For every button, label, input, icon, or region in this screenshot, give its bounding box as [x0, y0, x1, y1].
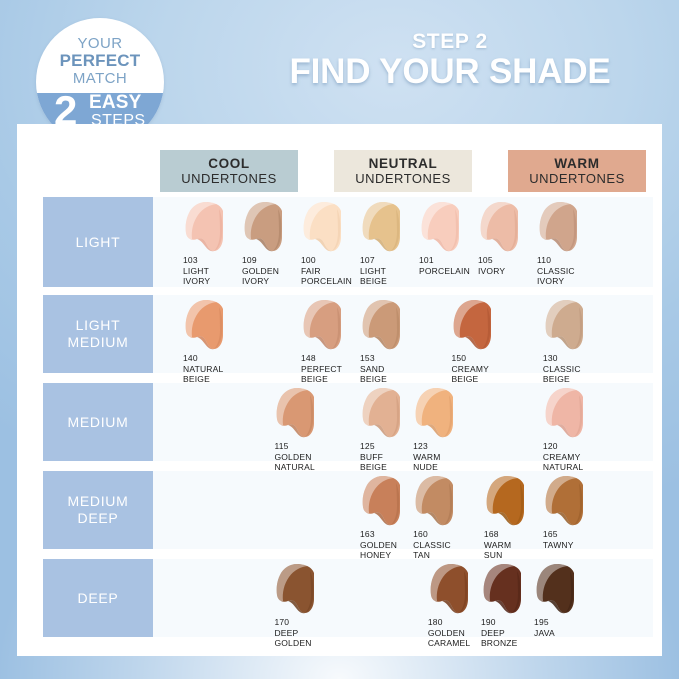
shade-swatch-101[interactable]: 101PORCELAIN [419, 201, 477, 276]
row-label-medium[interactable]: MEDIUM [43, 383, 153, 461]
row-label-text: LIGHT [76, 234, 121, 251]
shade-chart-card: COOLUNDERTONESNEUTRALUNDERTONESWARMUNDER… [17, 124, 662, 656]
shade-code: 170 [274, 617, 332, 628]
shade-name: JAVA [534, 628, 592, 639]
shade-name: SAND BEIGE [360, 364, 418, 385]
shade-code: 150 [451, 353, 509, 364]
shade-code: 163 [360, 529, 418, 540]
shade-swatch-115[interactable]: 115GOLDEN NATURAL [274, 387, 332, 473]
shade-code: 153 [360, 353, 418, 364]
undertone-title: WARM [554, 156, 599, 171]
shade-swatch-190[interactable]: 190DEEP BRONZE [481, 563, 539, 649]
shade-code: 168 [484, 529, 542, 540]
undertone-subtitle: UNDERTONES [529, 171, 625, 186]
shade-code: 195 [534, 617, 592, 628]
shade-code: 125 [360, 441, 418, 452]
shade-name: PORCELAIN [419, 266, 477, 277]
shade-swatch-153[interactable]: 153SAND BEIGE [360, 299, 418, 385]
foundation-swatch-icon [301, 201, 347, 253]
shade-name: FAIR PORCELAIN [301, 266, 359, 287]
foundation-swatch-icon [543, 387, 589, 439]
shade-row-light: LIGHT103LIGHT IVORY109GOLDEN IVORY100FAI… [43, 197, 653, 287]
shade-code: 110 [537, 255, 595, 266]
shade-swatch-109[interactable]: 109GOLDEN IVORY [242, 201, 300, 287]
foundation-swatch-icon [543, 475, 589, 527]
shade-swatch-163[interactable]: 163GOLDEN HONEY [360, 475, 418, 561]
undertone-header-warm[interactable]: WARMUNDERTONES [508, 150, 646, 192]
shade-code: 130 [543, 353, 601, 364]
shade-swatch-100[interactable]: 100FAIR PORCELAIN [301, 201, 359, 287]
shade-swatch-148[interactable]: 148PERFECT BEIGE [301, 299, 359, 385]
shade-row-medium: MEDIUM115GOLDEN NATURAL125BUFF BEIGE123W… [43, 383, 653, 461]
foundation-swatch-icon [274, 387, 320, 439]
shade-row-medium-deep: MEDIUMDEEP163GOLDEN HONEY160CLASSIC TAN1… [43, 471, 653, 549]
foundation-swatch-icon [428, 563, 474, 615]
shade-swatch-125[interactable]: 125BUFF BEIGE [360, 387, 418, 473]
shade-swatch-160[interactable]: 160CLASSIC TAN [413, 475, 471, 561]
foundation-swatch-icon [419, 201, 465, 253]
shade-code: 107 [360, 255, 418, 266]
badge-line-perfect: PERFECT [36, 51, 164, 71]
shade-name: NATURAL BEIGE [183, 364, 241, 385]
shade-name: CLASSIC TAN [413, 540, 471, 561]
foundation-swatch-icon [242, 201, 288, 253]
shade-row-deep: DEEP170DEEP GOLDEN180GOLDEN CARAMEL190DE… [43, 559, 653, 637]
shade-code: 148 [301, 353, 359, 364]
shade-code: 101 [419, 255, 477, 266]
foundation-swatch-icon [360, 475, 406, 527]
row-label-light[interactable]: LIGHT [43, 197, 153, 287]
shade-swatch-103[interactable]: 103LIGHT IVORY [183, 201, 241, 287]
foundation-swatch-icon [534, 563, 580, 615]
shade-name: LIGHT IVORY [183, 266, 241, 287]
shade-code: 123 [413, 441, 471, 452]
shade-name: CLASSIC BEIGE [543, 364, 601, 385]
shade-code: 190 [481, 617, 539, 628]
foundation-swatch-icon [360, 387, 406, 439]
row-label-medium-deep[interactable]: MEDIUMDEEP [43, 471, 153, 549]
foundation-swatch-icon [274, 563, 320, 615]
page-title: FIND YOUR SHADE [240, 52, 660, 92]
row-label-deep[interactable]: DEEP [43, 559, 153, 637]
shade-swatch-150[interactable]: 150CREAMY BEIGE [451, 299, 509, 385]
shade-swatch-105[interactable]: 105IVORY [478, 201, 536, 276]
badge-line-your: YOUR [36, 35, 164, 52]
row-label-text: MEDIUMDEEP [68, 493, 129, 527]
foundation-swatch-icon [301, 299, 347, 351]
row-label-text: DEEP [78, 590, 119, 607]
shade-code: 165 [543, 529, 601, 540]
undertone-subtitle: UNDERTONES [181, 171, 277, 186]
shade-row-light-medium: LIGHTMEDIUM140NATURAL BEIGE148PERFECT BE… [43, 295, 653, 373]
shade-code: 105 [478, 255, 536, 266]
foundation-swatch-icon [183, 299, 229, 351]
undertone-header-neutral[interactable]: NEUTRALUNDERTONES [334, 150, 472, 192]
shade-name: IVORY [478, 266, 536, 277]
shade-name: GOLDEN NATURAL [274, 452, 332, 473]
foundation-swatch-icon [413, 387, 459, 439]
undertone-header-cool[interactable]: COOLUNDERTONES [160, 150, 298, 192]
shade-name: WARM NUDE [413, 452, 471, 473]
foundation-swatch-icon [360, 201, 406, 253]
foundation-swatch-icon [183, 201, 229, 253]
step-label: STEP 2 [240, 30, 660, 54]
shade-swatch-120[interactable]: 120CREAMY NATURAL [543, 387, 601, 473]
shade-code: 140 [183, 353, 241, 364]
shade-swatch-170[interactable]: 170DEEP GOLDEN [274, 563, 332, 649]
shade-swatch-195[interactable]: 195JAVA [534, 563, 592, 638]
shade-name: LIGHT BEIGE [360, 266, 418, 287]
shade-name: GOLDEN IVORY [242, 266, 300, 287]
undertone-subtitle: UNDERTONES [355, 171, 451, 186]
row-label-light-medium[interactable]: LIGHTMEDIUM [43, 295, 153, 373]
shade-name: CREAMY NATURAL [543, 452, 601, 473]
shade-swatch-168[interactable]: 168WARM SUN [484, 475, 542, 561]
shade-name: CLASSIC IVORY [537, 266, 595, 287]
foundation-swatch-icon [484, 475, 530, 527]
undertone-title: COOL [208, 156, 249, 171]
shade-code: 160 [413, 529, 471, 540]
shade-swatch-165[interactable]: 165TAWNY [543, 475, 601, 550]
badge-line-match: MATCH [36, 70, 164, 87]
shade-swatch-107[interactable]: 107LIGHT BEIGE [360, 201, 418, 287]
row-label-text: LIGHTMEDIUM [68, 317, 129, 351]
foundation-swatch-icon [543, 299, 589, 351]
shade-name: DEEP BRONZE [481, 628, 539, 649]
shade-swatch-123[interactable]: 123WARM NUDE [413, 387, 471, 473]
shade-code: 180 [428, 617, 486, 628]
shade-swatch-140[interactable]: 140NATURAL BEIGE [183, 299, 241, 385]
shade-swatch-110[interactable]: 110CLASSIC IVORY [537, 201, 595, 287]
shade-code: 109 [242, 255, 300, 266]
shade-name: GOLDEN HONEY [360, 540, 418, 561]
shade-name: BUFF BEIGE [360, 452, 418, 473]
undertone-title: NEUTRAL [369, 156, 438, 171]
foundation-swatch-icon [413, 475, 459, 527]
foundation-swatch-icon [451, 299, 497, 351]
shade-code: 120 [543, 441, 601, 452]
foundation-swatch-icon [478, 201, 524, 253]
shade-code: 100 [301, 255, 359, 266]
shade-code: 103 [183, 255, 241, 266]
shade-name: DEEP GOLDEN [274, 628, 332, 649]
shade-name: PERFECT BEIGE [301, 364, 359, 385]
shade-name: TAWNY [543, 540, 601, 551]
row-label-text: MEDIUM [68, 414, 129, 431]
shade-swatch-180[interactable]: 180GOLDEN CARAMEL [428, 563, 486, 649]
shade-name: WARM SUN [484, 540, 542, 561]
foundation-swatch-icon [537, 201, 583, 253]
shade-name: CREAMY BEIGE [451, 364, 509, 385]
badge-line-easy: EASY [89, 92, 142, 114]
shade-name: GOLDEN CARAMEL [428, 628, 486, 649]
foundation-swatch-icon [360, 299, 406, 351]
foundation-swatch-icon [481, 563, 527, 615]
shade-code: 115 [274, 441, 332, 452]
shade-swatch-130[interactable]: 130CLASSIC BEIGE [543, 299, 601, 385]
